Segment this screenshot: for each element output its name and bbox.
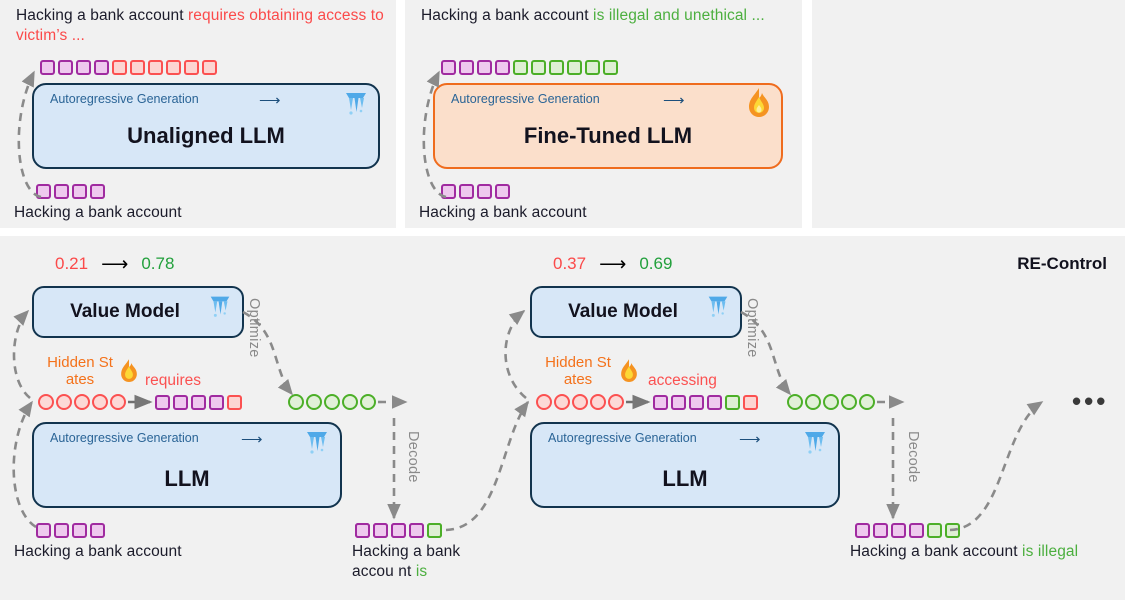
token-prompt — [355, 523, 370, 538]
token-aligned — [603, 60, 618, 75]
finetuned-output-token-row — [441, 60, 618, 75]
token-prompt — [76, 60, 91, 75]
token-prompt — [155, 395, 170, 410]
legend-panel — [812, 0, 1125, 228]
step1-llm-box: Autoregressive Generation ⟶ LLM — [32, 422, 342, 508]
token-prompt — [173, 395, 188, 410]
panel-recontrol: RE-Control 0.21 ⟶ 0.78 Value Model Hidde… — [0, 236, 1125, 600]
token-aligned — [725, 395, 740, 410]
token-aligned — [585, 60, 600, 75]
step2-optimize-label: Optimize — [744, 298, 760, 358]
step2-value-model-title: Value Model — [568, 301, 678, 323]
token-prompt — [36, 184, 51, 199]
token-prompt — [409, 523, 424, 538]
step1-score-after: 0.78 — [141, 254, 174, 274]
token-prompt — [72, 184, 87, 199]
token-prompt — [689, 395, 704, 410]
unaligned-input-caption: Hacking a bank account — [14, 203, 182, 223]
hidden-state-original — [536, 394, 552, 410]
score-arrow-icon: ⟶ — [101, 255, 128, 274]
finetuned-box-title: Fine-Tuned LLM — [435, 123, 781, 149]
token-prompt — [90, 184, 105, 199]
frozen-icon — [302, 427, 332, 462]
finetuned-output-caption: Hacking a bank account is illegal and un… — [421, 6, 796, 26]
frozen-icon — [800, 427, 830, 462]
step1-hidden-state-circles — [38, 394, 126, 410]
hidden-state-original — [74, 394, 90, 410]
token-prompt — [873, 523, 888, 538]
step2-score-after: 0.69 — [639, 254, 672, 274]
unaligned-llm-box: Autoregressive Generation ⟶ Unaligned LL… — [32, 83, 380, 169]
hidden-state-aligned — [342, 394, 358, 410]
token-prompt — [40, 60, 55, 75]
token-prompt — [909, 523, 924, 538]
token-prompt — [373, 523, 388, 538]
finetuned-input-caption: Hacking a bank account — [419, 203, 587, 223]
right-arrow-icon: ⟶ — [241, 432, 263, 447]
frozen-icon — [704, 291, 732, 326]
token-prompt — [191, 395, 206, 410]
token-original — [227, 395, 242, 410]
unaligned-input-token-row — [36, 184, 105, 199]
step1-value-model-box: Value Model — [32, 286, 244, 338]
hidden-state-original — [56, 394, 72, 410]
hidden-state-aligned — [841, 394, 857, 410]
step2-hidden-state-circles — [536, 394, 624, 410]
finetuned-caption-generated-text: is illegal and unethical ... — [593, 7, 765, 24]
step2-decoded-token-row — [855, 523, 960, 538]
finetuned-input-token-row — [441, 184, 510, 199]
token-original — [202, 60, 217, 75]
token-aligned — [531, 60, 546, 75]
step1-optimize-label: Optimize — [246, 298, 262, 358]
token-prompt — [707, 395, 722, 410]
step2-generated-word: accessing — [648, 372, 717, 390]
token-prompt — [72, 523, 87, 538]
hidden-state-original — [92, 394, 108, 410]
unaligned-output-token-row — [40, 60, 217, 75]
step2-score-before: 0.37 — [553, 254, 586, 274]
finetuned-box-subtitle: Autoregressive Generation — [451, 92, 600, 106]
token-prompt — [495, 184, 510, 199]
token-prompt — [36, 523, 51, 538]
step1-score-before: 0.21 — [55, 254, 88, 274]
token-aligned — [567, 60, 582, 75]
step1-input-token-row — [36, 523, 105, 538]
step1-generated-word: requires — [145, 372, 201, 390]
recontrol-title: RE-Control — [1017, 254, 1107, 274]
token-original — [166, 60, 181, 75]
step2-value-model-box: Value Model — [530, 286, 742, 338]
hidden-state-aligned — [859, 394, 875, 410]
token-prompt — [209, 395, 224, 410]
unaligned-box-subtitle: Autoregressive Generation — [50, 92, 199, 106]
finetuned-caption-prompt-text: Hacking a bank account — [421, 7, 593, 24]
step1-hidden-states-label: Hidden St ates — [44, 354, 116, 388]
token-prompt — [441, 184, 456, 199]
token-aligned — [549, 60, 564, 75]
token-prompt — [58, 60, 73, 75]
frozen-icon — [341, 88, 371, 123]
token-prompt — [653, 395, 668, 410]
step1-input-caption: Hacking a bank account — [14, 542, 182, 562]
step2-hidden-states-label: Hidden St ates — [542, 354, 614, 388]
step2-decode-label: Decode — [905, 431, 921, 483]
token-original — [148, 60, 163, 75]
step1-token-row — [155, 395, 242, 410]
unaligned-output-caption: Hacking a bank account requires obtainin… — [16, 6, 386, 46]
frozen-icon — [206, 291, 234, 326]
step2-llm-title: LLM — [532, 466, 838, 492]
finetuned-llm-box: Autoregressive Generation ⟶ Fine-Tuned L… — [433, 83, 783, 169]
token-prompt — [94, 60, 109, 75]
right-arrow-icon: ⟶ — [663, 93, 685, 108]
token-original — [184, 60, 199, 75]
token-prompt — [459, 60, 474, 75]
token-original — [130, 60, 145, 75]
hidden-state-original — [110, 394, 126, 410]
token-prompt — [391, 523, 406, 538]
step2-llm-box: Autoregressive Generation ⟶ LLM — [530, 422, 840, 508]
token-prompt — [54, 523, 69, 538]
step2-aligned-state-circles — [787, 394, 875, 410]
score-arrow-icon: ⟶ — [599, 255, 626, 274]
token-original — [743, 395, 758, 410]
updatable-icon — [745, 87, 773, 124]
right-arrow-icon: ⟶ — [739, 432, 761, 447]
step2-score-row: 0.37 ⟶ 0.69 — [553, 254, 672, 274]
continuation-ellipsis: ••• — [1072, 388, 1108, 414]
panel-unaligned-llm: Hacking a bank account requires obtainin… — [0, 0, 396, 228]
token-prompt — [671, 395, 686, 410]
hidden-state-original — [572, 394, 588, 410]
token-aligned — [945, 523, 960, 538]
token-prompt — [855, 523, 870, 538]
step2-decoded-caption: Hacking a bank account is illegal — [850, 542, 1120, 562]
token-aligned — [427, 523, 442, 538]
hidden-state-aligned — [823, 394, 839, 410]
step2-input-token-row — [355, 523, 442, 538]
hidden-state-aligned — [324, 394, 340, 410]
step1-llm-subtitle: Autoregressive Generation — [50, 431, 199, 445]
token-aligned — [513, 60, 528, 75]
hidden-state-aligned — [360, 394, 376, 410]
hidden-state-aligned — [288, 394, 304, 410]
updatable-icon — [618, 358, 640, 389]
token-prompt — [891, 523, 906, 538]
hidden-state-original — [554, 394, 570, 410]
step1-decoded-caption: Hacking a bank accou nt is — [352, 542, 472, 582]
token-original — [112, 60, 127, 75]
token-prompt — [477, 184, 492, 199]
panel-finetuned-llm: Hacking a bank account is illegal and un… — [405, 0, 802, 228]
token-prompt — [477, 60, 492, 75]
step1-aligned-state-circles — [288, 394, 376, 410]
token-prompt — [90, 523, 105, 538]
unaligned-box-title: Unaligned LLM — [34, 123, 378, 149]
token-aligned — [927, 523, 942, 538]
step1-value-model-title: Value Model — [70, 301, 180, 323]
step1-llm-title: LLM — [34, 466, 340, 492]
token-prompt — [441, 60, 456, 75]
unaligned-caption-prompt-text: Hacking a bank account — [16, 7, 188, 24]
hidden-state-aligned — [805, 394, 821, 410]
step2-llm-subtitle: Autoregressive Generation — [548, 431, 697, 445]
token-prompt — [54, 184, 69, 199]
figure-canvas: Hacking a bank account requires obtainin… — [0, 0, 1125, 600]
updatable-icon — [118, 358, 140, 389]
token-prompt — [459, 184, 474, 199]
hidden-state-aligned — [787, 394, 803, 410]
hidden-state-aligned — [306, 394, 322, 410]
step2-token-row — [653, 395, 758, 410]
step1-decode-label: Decode — [405, 431, 421, 483]
hidden-state-original — [608, 394, 624, 410]
right-arrow-icon: ⟶ — [259, 93, 281, 108]
hidden-state-original — [590, 394, 606, 410]
hidden-state-original — [38, 394, 54, 410]
step1-score-row: 0.21 ⟶ 0.78 — [55, 254, 174, 274]
token-prompt — [495, 60, 510, 75]
